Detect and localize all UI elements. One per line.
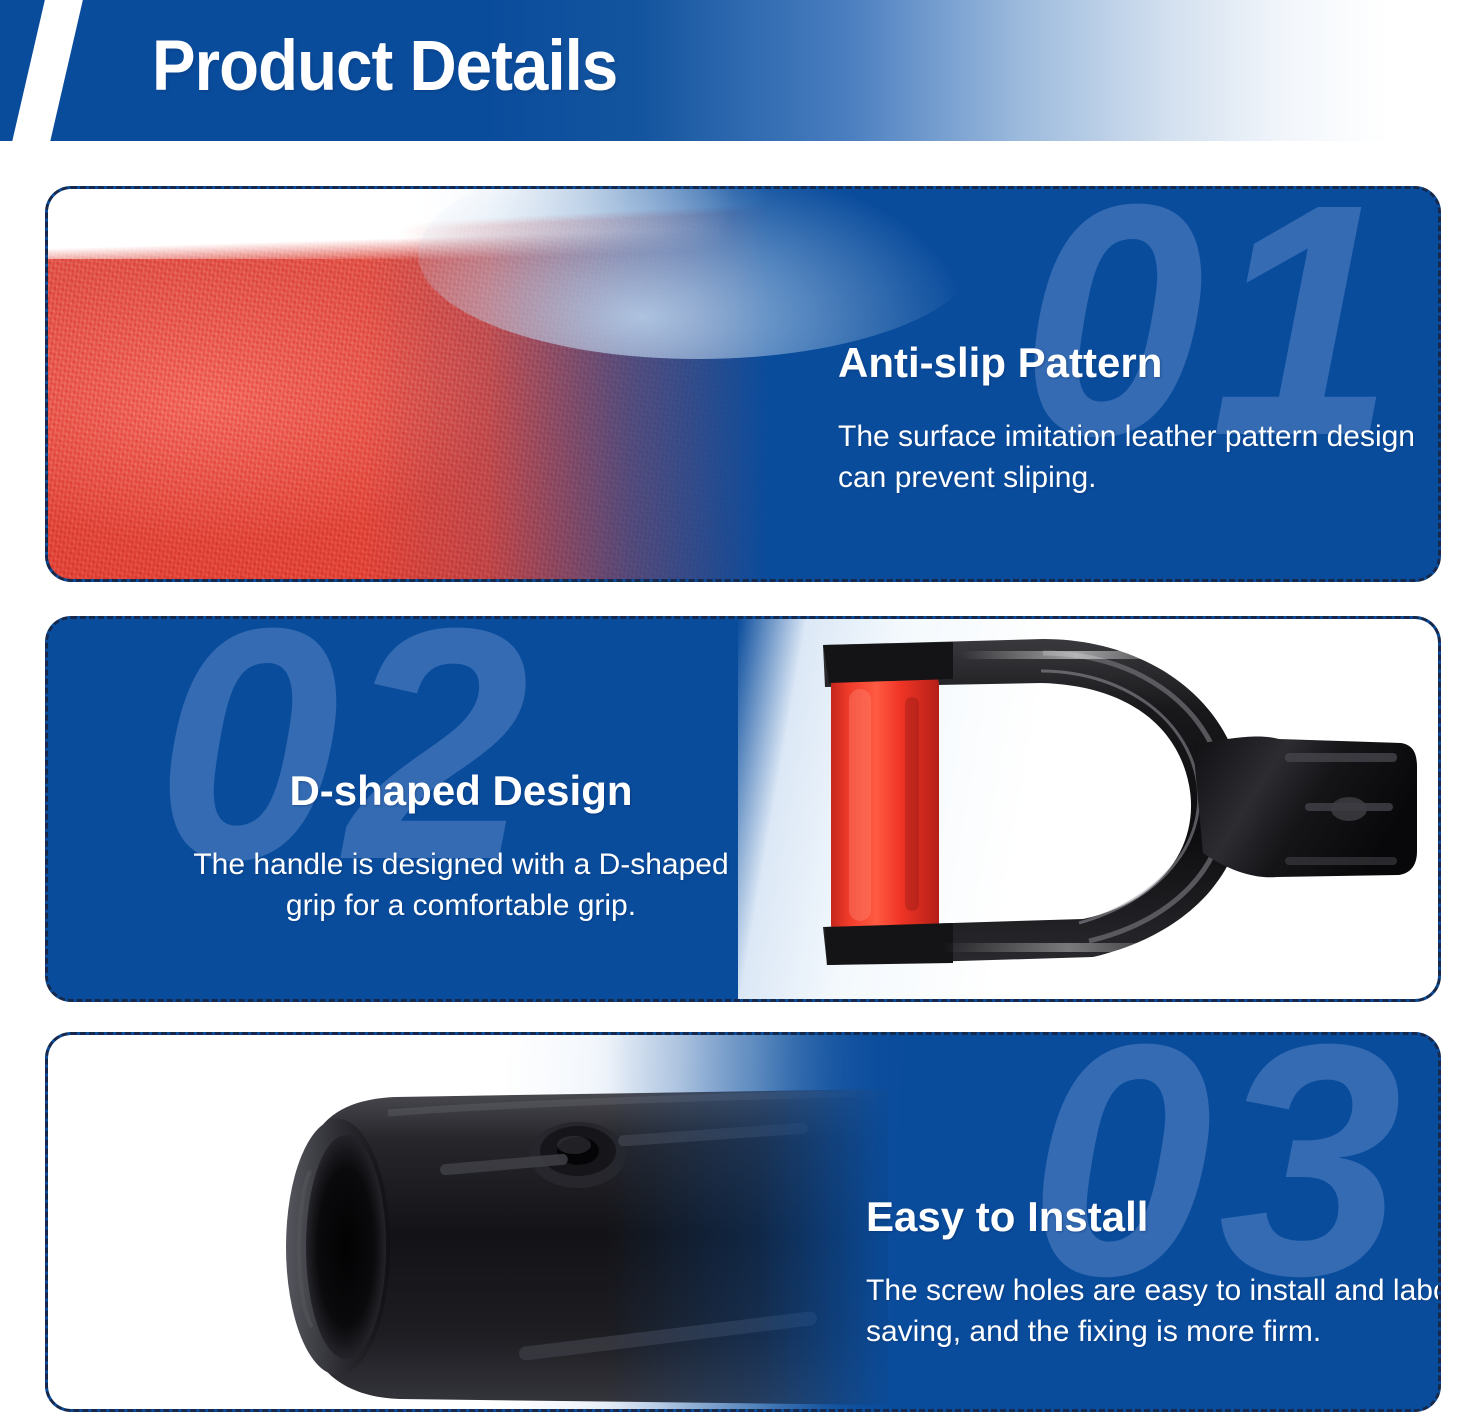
card-title-3: Easy to Install xyxy=(866,1193,1438,1241)
card-inner-1: 01 Anti-slip Pattern The surface imitati… xyxy=(48,189,1438,579)
card-title-2: D-shaped Design xyxy=(176,767,746,815)
card-body-3: The screw holes are easy to install and … xyxy=(866,1271,1438,1352)
feature-card-easy-to-install: 03 Easy to Install The screw holes are e… xyxy=(45,1032,1441,1412)
card-text-block-2: D-shaped Design The handle is designed w… xyxy=(176,767,746,926)
d-shaped-handle-photo xyxy=(738,619,1438,999)
card-text-block-1: Anti-slip Pattern The surface imitation … xyxy=(838,339,1418,498)
card-body-2: The handle is designed with a D-shaped g… xyxy=(176,845,746,926)
card-inner-2: 02 D-shaped Design The handle is designe… xyxy=(48,619,1438,999)
d-handle-illustration xyxy=(793,627,1423,987)
card-title-1: Anti-slip Pattern xyxy=(838,339,1418,387)
card-text-block-3: Easy to Install The screw holes are easy… xyxy=(866,1193,1438,1352)
card-inner-3: 03 Easy to Install The screw holes are e… xyxy=(48,1035,1438,1409)
card-body-1: The surface imitation leather pattern de… xyxy=(838,417,1418,498)
feature-card-d-shaped-design: 02 D-shaped Design The handle is designe… xyxy=(45,616,1441,1002)
feature-card-anti-slip-pattern: 01 Anti-slip Pattern The surface imitati… xyxy=(45,186,1441,582)
feature-card-list: 01 Anti-slip Pattern The surface imitati… xyxy=(0,0,1461,1425)
